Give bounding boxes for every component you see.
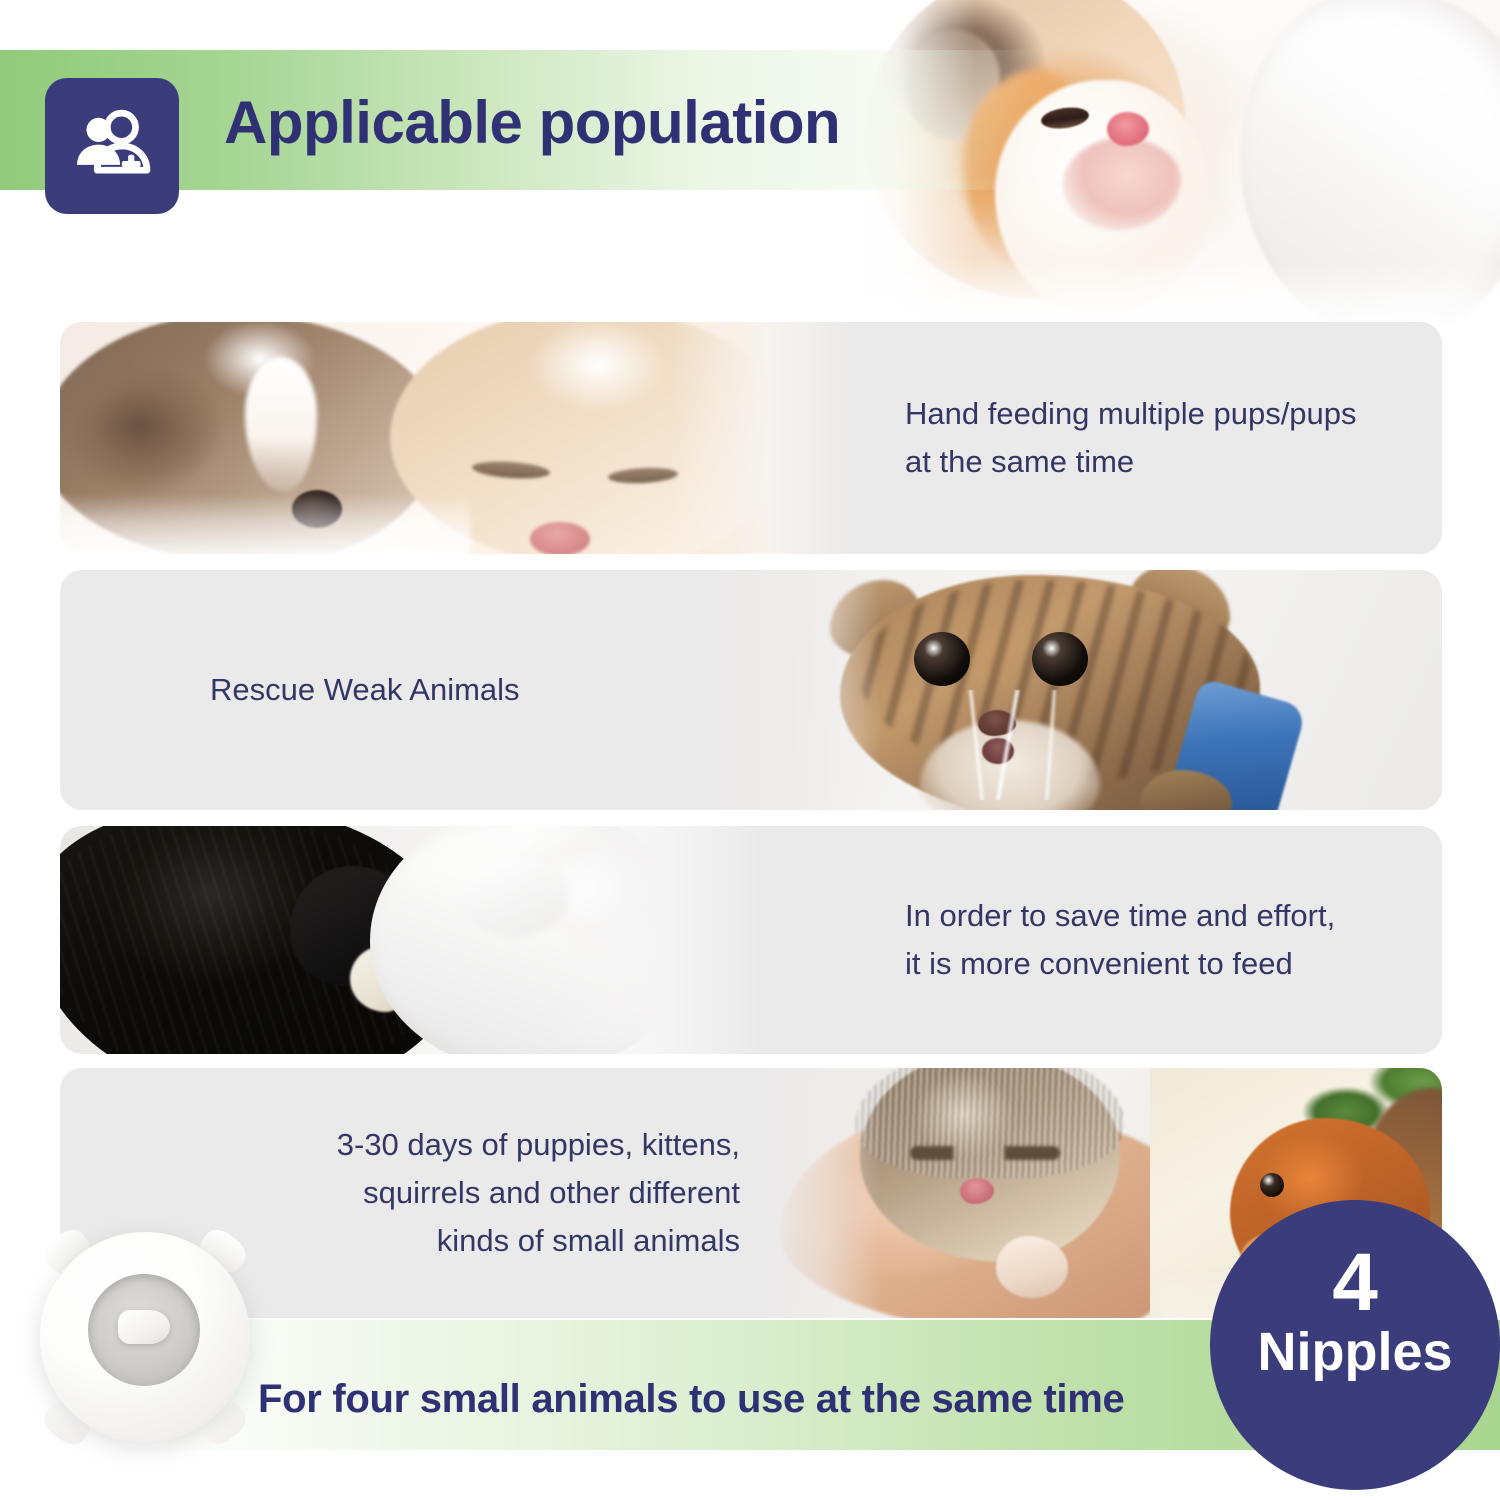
users-plus-icon xyxy=(45,78,179,214)
card-text-line: Hand feeding multiple pups/pups xyxy=(905,390,1442,438)
hero-bottom-fade xyxy=(845,260,1500,330)
newborn-kitten-eyes xyxy=(910,1146,1060,1160)
card-text-line: Rescue Weak Animals xyxy=(210,666,730,714)
kitten-eye-right xyxy=(1032,632,1088,686)
footer-caption: For four small animals to use at the sam… xyxy=(258,1377,1248,1422)
card-suitable-animals-text: 3-30 days of puppies, kittens, squirrels… xyxy=(180,1068,740,1318)
card-text-line: 3-30 days of puppies, kittens, xyxy=(337,1121,740,1169)
card-text-line: it is more convenient to feed xyxy=(905,940,1442,988)
infographic-page: Applicable population Hand feeding multi… xyxy=(0,0,1500,1500)
card-hand-feeding-photo xyxy=(60,322,850,554)
card-save-time-effort: In order to save time and effort, it is … xyxy=(60,826,1442,1054)
card-rescue-weak-animals-photo xyxy=(710,570,1442,810)
card-photo-fade xyxy=(760,1068,880,1318)
badge-number: 4 xyxy=(1332,1244,1378,1322)
newborn-kitten-fur xyxy=(855,1068,1125,1178)
nipples-count-badge: 4 Nipples xyxy=(1210,1200,1500,1490)
card-text-line: In order to save time and effort, xyxy=(905,892,1442,940)
card-save-time-effort-photo xyxy=(60,826,760,1054)
teat-nipple xyxy=(118,1310,170,1344)
puppy-tan-nose xyxy=(530,522,590,554)
card-text-line: squirrels and other different xyxy=(363,1169,740,1217)
card-save-time-effort-text: In order to save time and effort, it is … xyxy=(905,826,1442,1054)
card-rescue-weak-animals-text: Rescue Weak Animals xyxy=(210,570,730,810)
puppy-blanket xyxy=(60,494,470,554)
page-title: Applicable population xyxy=(224,78,984,168)
squirrel-eye xyxy=(1260,1173,1284,1197)
card-text-line: at the same time xyxy=(905,438,1442,486)
card-photo-fade xyxy=(670,322,850,554)
card-hand-feeding-text: Hand feeding multiple pups/pups at the s… xyxy=(905,322,1442,554)
card-photo-fade xyxy=(560,826,760,1054)
card-text-line: kinds of small animals xyxy=(437,1217,740,1265)
newborn-kitten-paw xyxy=(996,1236,1068,1298)
kitten-whiskers xyxy=(860,690,1160,800)
product-teat-photo xyxy=(30,1222,260,1452)
card-photo-fade xyxy=(710,570,880,810)
bottle-highlight xyxy=(460,856,570,936)
card-rescue-weak-animals: Rescue Weak Animals xyxy=(60,570,1442,810)
badge-label: Nipples xyxy=(1257,1324,1452,1381)
card-hand-feeding: Hand feeding multiple pups/pups at the s… xyxy=(60,322,1442,554)
kitten-eye-left xyxy=(914,632,970,686)
